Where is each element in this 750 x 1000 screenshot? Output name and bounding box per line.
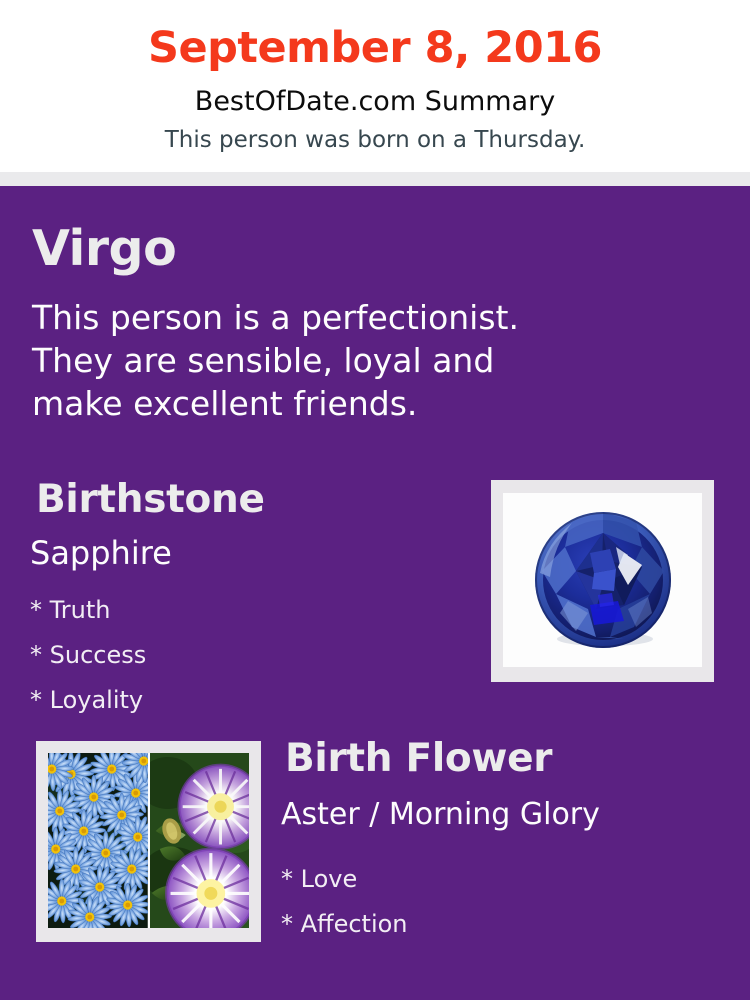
- list-item: * Love: [281, 857, 408, 902]
- morning-glory-photo-half: [150, 753, 250, 928]
- header: September 8, 2016 BestOfDate.com Summary…: [0, 0, 750, 172]
- sapphire-gem-icon: [532, 509, 674, 651]
- site-summary-label: BestOfDate.com Summary: [0, 86, 750, 117]
- list-item: * Truth: [30, 588, 146, 633]
- page-title-date: September 8, 2016: [0, 25, 750, 72]
- morning-glory-flowers-icon: [150, 753, 250, 928]
- born-day-text: This person was born on a Thursday.: [0, 127, 750, 153]
- birth-flower-photo: [48, 753, 249, 928]
- aster-photo-half: [48, 753, 150, 928]
- birthstone-image-frame: [491, 480, 714, 682]
- birth-flower-traits-list: * Love * Affection: [281, 857, 408, 947]
- list-item: * Affection: [281, 902, 408, 947]
- header-divider: [0, 172, 750, 186]
- birthstone-photo: [503, 493, 702, 667]
- zodiac-sign-heading: Virgo: [32, 222, 176, 276]
- birthstone-traits-list: * Truth * Success * Loyality: [30, 588, 146, 723]
- list-item: * Loyality: [30, 678, 146, 723]
- aster-flowers-icon: [48, 753, 148, 928]
- summary-card: September 8, 2016 BestOfDate.com Summary…: [0, 0, 750, 1000]
- birth-flower-name: Aster / Morning Glory: [281, 798, 600, 831]
- birthstone-name: Sapphire: [30, 536, 172, 571]
- zodiac-description: This person is a perfectionist. They are…: [32, 296, 652, 425]
- birth-flower-image-frame: [36, 741, 261, 942]
- list-item: * Success: [30, 633, 146, 678]
- birthstone-heading: Birthstone: [36, 479, 265, 522]
- birth-flower-heading: Birth Flower: [285, 738, 552, 781]
